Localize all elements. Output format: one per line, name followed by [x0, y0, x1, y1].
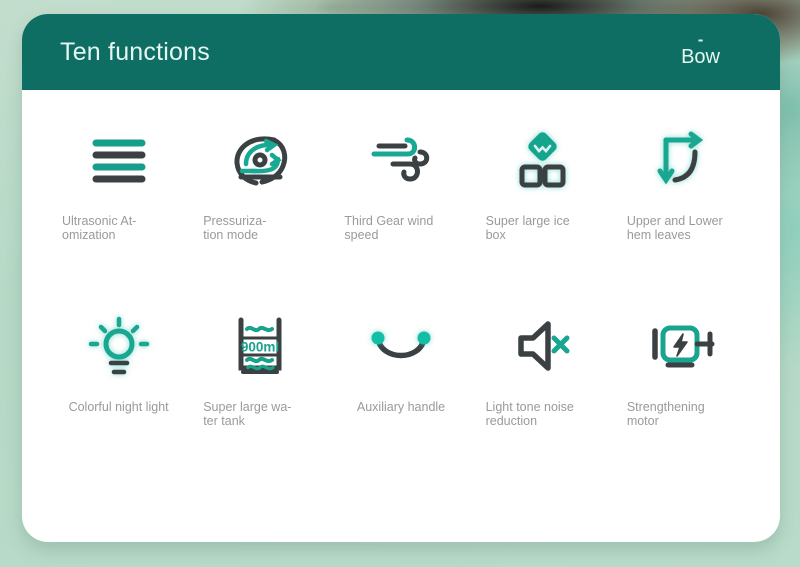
- feature-cell-pressurization-mode[interactable]: Pressuriza- tion mode: [189, 124, 330, 242]
- feature-cell-wind-speed[interactable]: Third Gear wind speed: [330, 124, 471, 242]
- feature-cell-noise-reduction[interactable]: Light tone noise reduction: [472, 310, 613, 428]
- feature-cell-water-tank[interactable]: 900ml Super large wa- ter tank: [189, 310, 330, 428]
- page-title: Ten functions: [60, 38, 210, 67]
- brand-name: Bow: [681, 46, 720, 68]
- card-header: Ten functions - Bow: [22, 14, 780, 90]
- ultrasonic-atomization-icon: [82, 124, 156, 198]
- feature-label: Strengthening motor: [613, 400, 754, 428]
- feature-label: Auxiliary handle: [330, 400, 471, 414]
- feature-row-2: Colorful night light 900ml: [48, 310, 754, 428]
- feature-label: Upper and Lower hem leaves: [613, 214, 754, 242]
- feature-label: Light tone noise reduction: [472, 400, 613, 428]
- water-tank-icon: 900ml: [223, 310, 297, 384]
- speaker-mute-icon: [505, 310, 579, 384]
- water-tank-capacity-badge: 900ml: [241, 340, 279, 355]
- features-grid: Ultrasonic At- omization: [22, 90, 780, 428]
- brand-dash: -: [698, 36, 704, 46]
- feature-cell-hem-leaves[interactable]: Upper and Lower hem leaves: [613, 124, 754, 242]
- feature-cell-ice-box[interactable]: Super large ice box: [472, 124, 613, 242]
- auxiliary-handle-icon: [364, 310, 438, 384]
- pressurization-swirl-icon: [223, 124, 297, 198]
- feature-label: Super large ice box: [472, 214, 613, 242]
- feature-label: Super large wa- ter tank: [189, 400, 330, 428]
- feature-list-card: Ten functions - Bow: [22, 14, 780, 542]
- feature-label: Ultrasonic At- omization: [48, 214, 189, 242]
- feature-row-1: Ultrasonic At- omization: [48, 124, 754, 242]
- up-down-arrows-icon: [646, 124, 720, 198]
- feature-cell-ultrasonic-atomization[interactable]: Ultrasonic At- omization: [48, 124, 189, 242]
- light-bulb-icon: [82, 310, 156, 384]
- feature-cell-night-light[interactable]: Colorful night light: [48, 310, 189, 414]
- feature-label: Third Gear wind speed: [330, 214, 471, 242]
- ice-box-icon: [505, 124, 579, 198]
- motor-icon: [646, 310, 720, 384]
- wind-speed-icon: [364, 124, 438, 198]
- feature-cell-motor[interactable]: Strengthening motor: [613, 310, 754, 428]
- feature-label: Colorful night light: [48, 400, 189, 414]
- feature-cell-auxiliary-handle[interactable]: Auxiliary handle: [330, 310, 471, 414]
- brand-block: - Bow: [681, 36, 748, 68]
- feature-label: Pressuriza- tion mode: [189, 214, 330, 242]
